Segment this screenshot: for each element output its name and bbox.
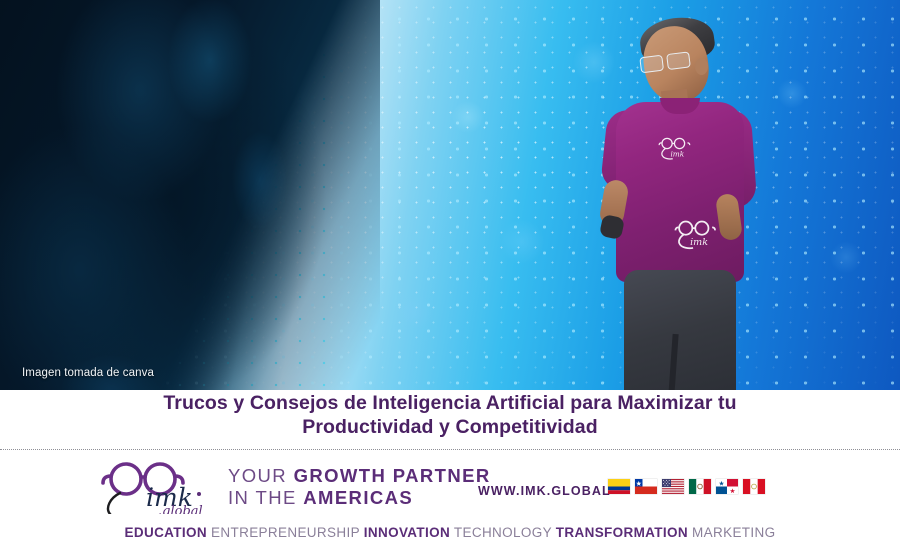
flag-panama-icon: [716, 479, 738, 494]
flag-peru-icon: [743, 479, 765, 494]
dotted-divider: [0, 449, 900, 450]
tshirt-imk-logo-chest: imk: [658, 136, 692, 160]
tagline-line-1: YOUR GROWTH PARTNER: [228, 465, 491, 487]
sector-item-innovation: INNOVATION: [364, 525, 450, 540]
svg-text:imk: imk: [690, 237, 708, 248]
ai-face-silhouette: [0, 0, 380, 390]
slide-canvas: imk imk Imagen tomada de canva Trucos y …: [0, 0, 900, 560]
person-pants: [624, 270, 736, 390]
hero-image: imk imk Imagen tomada de canva: [0, 0, 900, 390]
country-flags: [608, 479, 765, 494]
flag-colombia-icon: [608, 479, 630, 494]
imk-global-logo[interactable]: imk .global: [92, 460, 220, 514]
flag-mexico-icon: [689, 479, 711, 494]
imk-logo-mark: imk .global: [92, 460, 220, 514]
svg-text:imk: imk: [670, 150, 684, 159]
tshirt-imk-logo-hem: imk: [674, 218, 718, 250]
website-url[interactable]: WWW.IMK.GLOBAL: [478, 484, 611, 498]
tagline-line1-bold: GROWTH PARTNER: [294, 465, 491, 486]
tagline-line-2: IN THE AMERICAS: [228, 487, 491, 509]
footer: imk .global YOUR GROWTH PARTNER IN THE A…: [0, 451, 900, 560]
title-band: Trucos y Consejos de Inteligencia Artifi…: [0, 390, 900, 445]
flag-usa-icon: [662, 479, 684, 494]
person-ear: [695, 58, 708, 75]
sector-item-transformation: TRANSFORMATION: [556, 525, 688, 540]
flag-chile-icon: [635, 479, 657, 494]
person-tshirt: [616, 102, 744, 282]
sectors-list: EDUCATION ENTREPRENEURSHIP INNOVATION TE…: [0, 525, 900, 540]
person-photo: imk imk: [600, 18, 770, 390]
page-title-line1: Trucos y Consejos de Inteligencia Artifi…: [50, 391, 850, 415]
sector-item-education: EDUCATION: [125, 525, 207, 540]
image-credit-caption: Imagen tomada de canva: [22, 367, 154, 379]
brand-row: imk .global YOUR GROWTH PARTNER IN THE A…: [0, 455, 900, 513]
tagline-line2-light: IN THE: [228, 487, 303, 508]
tagline: YOUR GROWTH PARTNER IN THE AMERICAS: [228, 465, 491, 509]
sector-item-technology: TECHNOLOGY: [454, 525, 552, 540]
tagline-line2-bold: AMERICAS: [303, 487, 413, 508]
sector-item-marketing: MARKETING: [692, 525, 775, 540]
page-title-line2: Productividad y Competitividad: [50, 415, 850, 439]
sector-item-entrepreneurship: ENTREPRENEURSHIP: [211, 525, 360, 540]
tagline-line1-light: YOUR: [228, 465, 294, 486]
page-title: Trucos y Consejos de Inteligencia Artifi…: [50, 391, 850, 439]
imk-logo-suffix: .global: [158, 504, 203, 514]
